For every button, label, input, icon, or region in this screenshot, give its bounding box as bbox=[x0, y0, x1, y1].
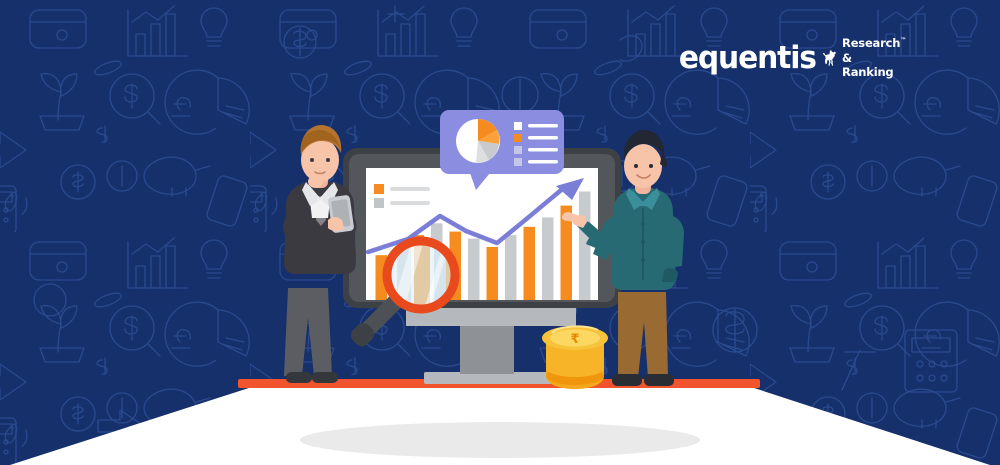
illustration-canvas: ₹ equentis bbox=[0, 0, 1000, 465]
tagline-ranking: Ranking bbox=[842, 65, 906, 80]
bull-icon bbox=[821, 28, 836, 88]
tagline-research: Research bbox=[842, 36, 900, 50]
brand-tagline: Research™ & Ranking bbox=[842, 36, 906, 80]
brand-wordmark: equentis bbox=[679, 43, 816, 74]
trademark-mark: ™ bbox=[900, 37, 906, 44]
brand-logo[interactable]: equentis Research™ & Ranking bbox=[676, 26, 906, 90]
tagline-ampersand: & bbox=[842, 51, 906, 66]
